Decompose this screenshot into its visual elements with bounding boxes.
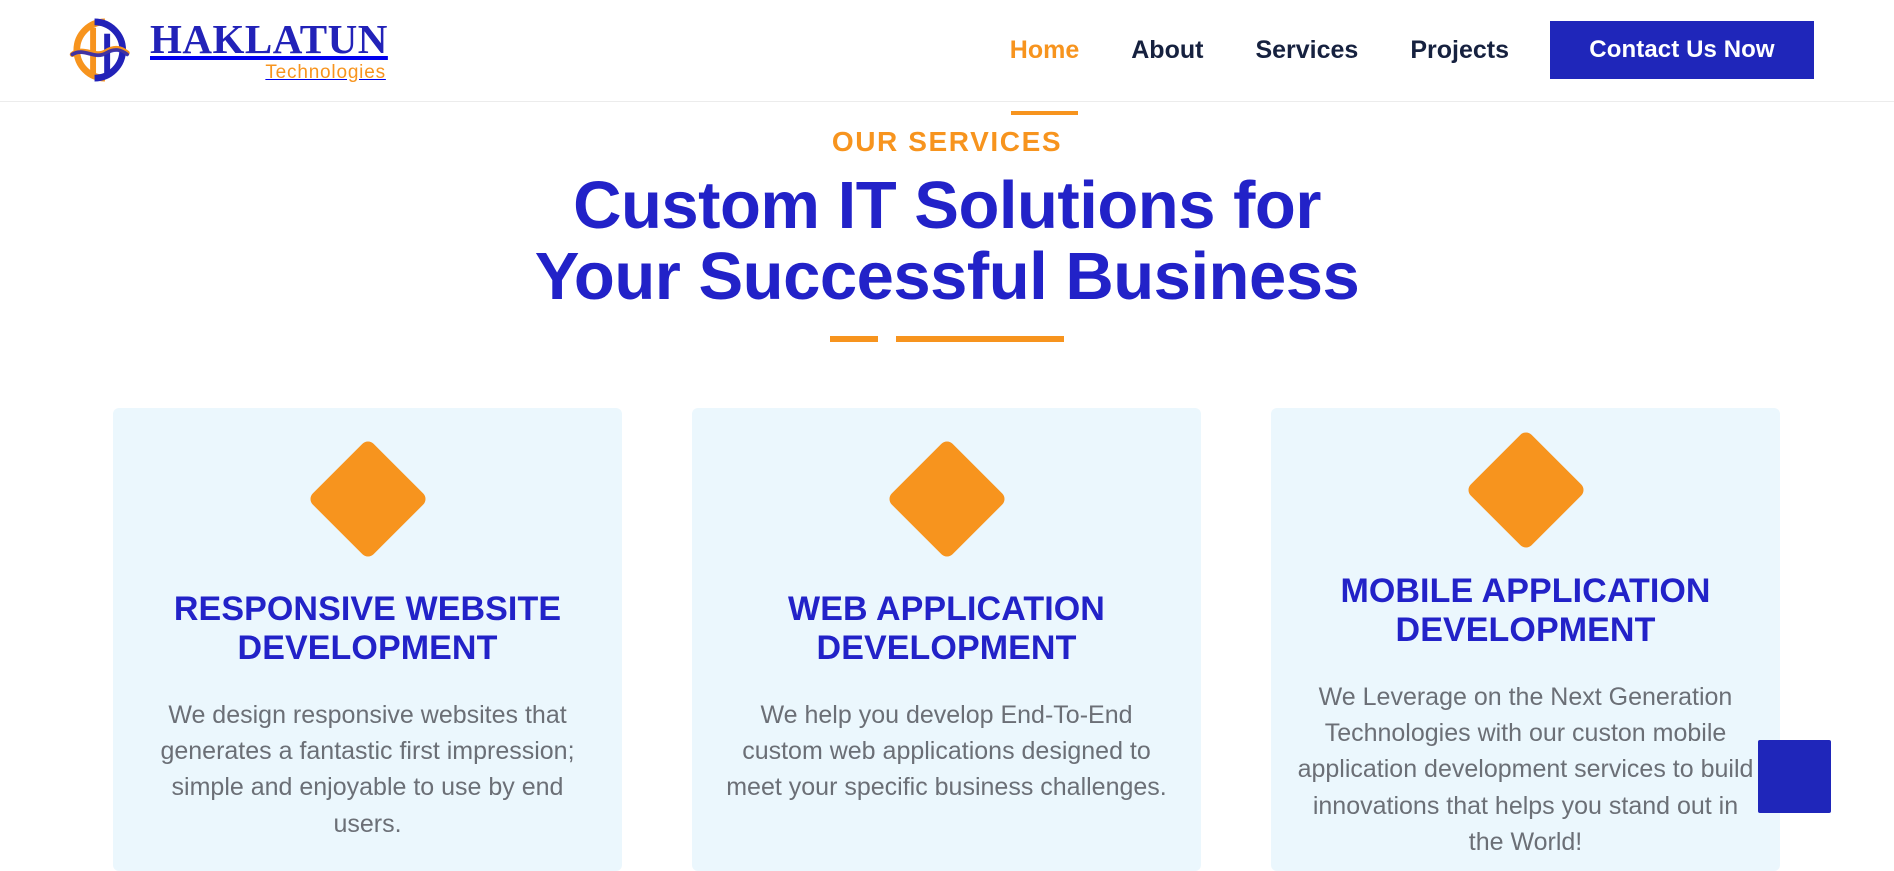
- services-card-grid: RESPONSIVE WEBSITE DEVELOPMENT We design…: [113, 408, 1781, 871]
- hero-section: OUR SERVICES Custom IT Solutions for You…: [0, 102, 1894, 342]
- brand-tagline: Technologies: [150, 63, 388, 82]
- section-eyebrow: OUR SERVICES: [0, 126, 1894, 158]
- contact-us-button[interactable]: Contact Us Now: [1550, 21, 1814, 79]
- card-icon-wrap: [718, 408, 1175, 590]
- floating-action-square[interactable]: [1758, 740, 1831, 813]
- diamond-icon: [307, 438, 429, 560]
- nav-item-home[interactable]: Home: [1010, 36, 1079, 67]
- page-root: HAKLATUN Technologies Home About Service…: [0, 0, 1894, 871]
- page-title-line-2: Your Successful Business: [0, 241, 1894, 312]
- card-icon-wrap: [1297, 408, 1754, 572]
- page-title: Custom IT Solutions for Your Successful …: [0, 170, 1894, 312]
- service-card-title: WEB APPLICATION DEVELOPMENT: [718, 590, 1175, 669]
- service-card-responsive-website[interactable]: RESPONSIVE WEBSITE DEVELOPMENT We design…: [113, 408, 622, 871]
- service-card-body: We design responsive websites that gener…: [139, 697, 596, 842]
- page-title-line-1: Custom IT Solutions for: [0, 170, 1894, 241]
- brand-name: HAKLATUN: [150, 19, 388, 60]
- diamond-icon: [886, 438, 1008, 560]
- haklatun-logo-icon: [62, 13, 136, 87]
- service-card-title: RESPONSIVE WEBSITE DEVELOPMENT: [139, 590, 596, 669]
- main-navigation: Home About Services Projects: [1010, 0, 1509, 102]
- brand-logo-link[interactable]: HAKLATUN Technologies: [62, 8, 388, 92]
- divider-bar-short: [830, 336, 878, 342]
- card-icon-wrap: [139, 408, 596, 590]
- service-card-body: We help you develop End-To-End custom we…: [718, 697, 1175, 806]
- diamond-icon: [1465, 429, 1587, 551]
- service-card-mobile-application[interactable]: MOBILE APPLICATION DEVELOPMENT We Levera…: [1271, 408, 1780, 871]
- service-card-body: We Leverage on the Next Generation Techn…: [1297, 679, 1754, 860]
- nav-item-about[interactable]: About: [1131, 36, 1203, 67]
- nav-item-services[interactable]: Services: [1255, 36, 1358, 67]
- nav-item-projects[interactable]: Projects: [1410, 36, 1509, 67]
- title-divider: [0, 336, 1894, 342]
- brand-wordmark: HAKLATUN Technologies: [150, 19, 388, 82]
- service-card-web-application[interactable]: WEB APPLICATION DEVELOPMENT We help you …: [692, 408, 1201, 871]
- divider-bar-long: [896, 336, 1064, 342]
- site-header: HAKLATUN Technologies Home About Service…: [0, 0, 1894, 102]
- service-card-title: MOBILE APPLICATION DEVELOPMENT: [1297, 572, 1754, 651]
